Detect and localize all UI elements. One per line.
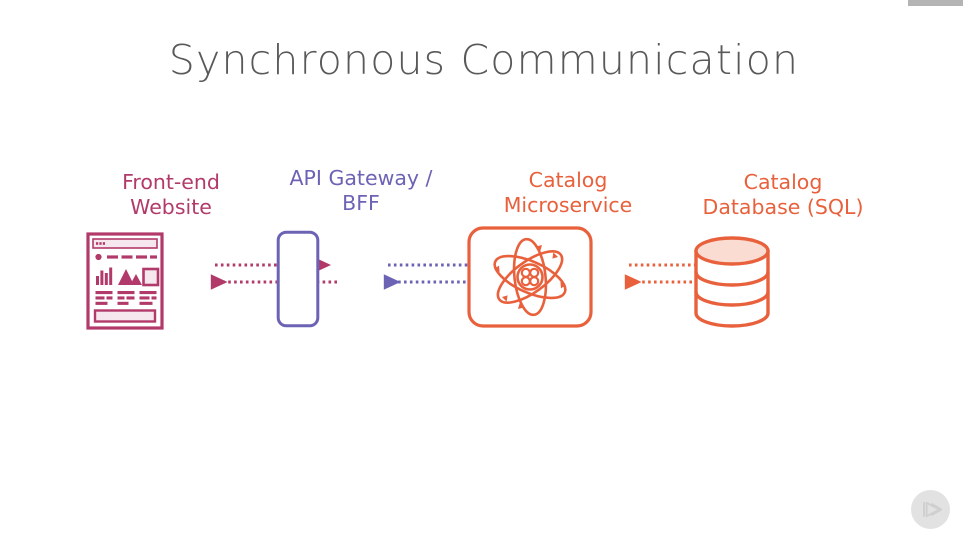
architecture-diagram: Front-end Website (0, 0, 968, 542)
node-label-database: Catalog Database (SQL) (690, 170, 876, 220)
database-cylinder-icon (690, 234, 876, 330)
diagram-node-microservice[interactable]: Catalog Microservice (467, 168, 669, 328)
node-label-frontend: Front-end Website (86, 170, 256, 220)
diagram-node-gateway[interactable]: API Gateway / BFF (276, 166, 446, 328)
node-label-microservice: Catalog Microservice (467, 168, 669, 218)
play-badge-icon[interactable] (911, 490, 950, 529)
diagram-node-database[interactable]: Catalog Database (SQL) (690, 170, 876, 330)
diagram-node-frontend[interactable]: Front-end Website (86, 170, 256, 330)
node-label-gateway: API Gateway / BFF (276, 166, 446, 216)
